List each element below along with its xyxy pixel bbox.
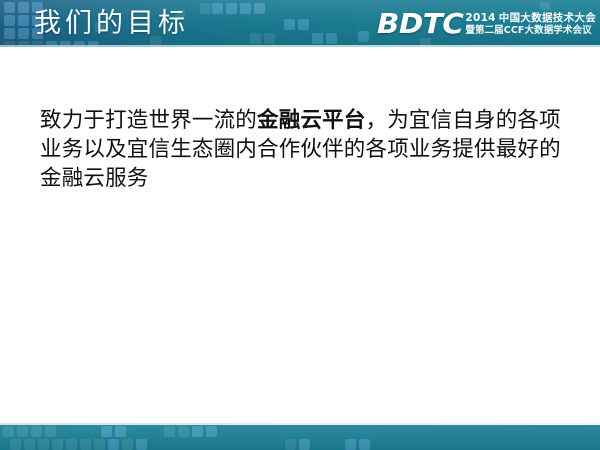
decor-square bbox=[345, 439, 356, 450]
decor-square bbox=[250, 33, 261, 44]
decor-square bbox=[66, 439, 77, 450]
logo-conference-name: 中国大数据技术大会 bbox=[499, 12, 596, 24]
decor-square bbox=[192, 426, 203, 437]
decor-square bbox=[4, 2, 15, 13]
decor-square bbox=[45, 426, 56, 437]
decor-square bbox=[101, 426, 112, 437]
decor-square bbox=[285, 439, 296, 450]
decor-square bbox=[212, 3, 223, 14]
decor-square bbox=[108, 439, 119, 450]
body-text-part-1: 致力于打造世界一流的 bbox=[40, 108, 257, 133]
decor-square bbox=[299, 439, 310, 450]
decor-square bbox=[358, 31, 369, 42]
decor-square bbox=[24, 439, 35, 450]
slide-content-area: 致力于打造世界一流的金融云平台，为宜信自身的各项业务以及宜信生态圈内合作伙伴的各… bbox=[40, 84, 570, 214]
decor-square bbox=[80, 439, 91, 450]
decor-square bbox=[31, 426, 42, 437]
decor-square bbox=[18, 28, 29, 39]
decor-square bbox=[178, 426, 189, 437]
decor-square bbox=[4, 15, 15, 26]
decor-square bbox=[18, 15, 29, 26]
slide-canvas: 我们的目标 BDTC 2014中国大数据技术大会 暨第二届CCF大数据学术会议 … bbox=[0, 0, 600, 450]
decor-square bbox=[18, 2, 29, 13]
decor-square bbox=[298, 19, 309, 30]
slide-footer-bar bbox=[0, 425, 600, 450]
decor-square bbox=[52, 439, 63, 450]
logo-text-block: 2014中国大数据技术大会 暨第二届CCF大数据学术会议 bbox=[465, 12, 596, 36]
decor-square bbox=[17, 426, 28, 437]
decor-square bbox=[94, 439, 105, 450]
decor-square bbox=[4, 28, 15, 39]
body-paragraph: 致力于打造世界一流的金融云平台，为宜信自身的各项业务以及宜信生态圈内合作伙伴的各… bbox=[40, 106, 570, 193]
decor-square bbox=[254, 3, 265, 14]
decor-square bbox=[240, 3, 251, 14]
decor-square bbox=[200, 3, 211, 14]
conference-logo: BDTC 2014中国大数据技术大会 暨第二届CCF大数据学术会议 bbox=[379, 5, 596, 43]
decor-square bbox=[264, 33, 275, 44]
decor-square bbox=[164, 426, 175, 437]
page-title: 我们的目标 bbox=[34, 3, 189, 45]
logo-year: 2014 bbox=[465, 12, 495, 24]
decor-square bbox=[359, 439, 370, 450]
decor-square bbox=[312, 33, 323, 44]
decor-square bbox=[326, 33, 337, 44]
header-bottom-rule bbox=[0, 45, 600, 47]
decor-square bbox=[122, 439, 133, 450]
decor-square bbox=[115, 426, 126, 437]
decor-square bbox=[206, 426, 217, 437]
decor-square bbox=[284, 19, 295, 30]
decor-square bbox=[10, 439, 21, 450]
logo-line-2: 暨第二届CCF大数据学术会议 bbox=[465, 26, 596, 36]
logo-line-1: 2014中国大数据技术大会 bbox=[465, 13, 596, 24]
body-text-highlight: 金融云平台 bbox=[257, 108, 366, 133]
decor-square bbox=[226, 3, 237, 14]
decor-square bbox=[38, 439, 49, 450]
decor-square bbox=[136, 439, 147, 450]
slide-header-bar: 我们的目标 BDTC 2014中国大数据技术大会 暨第二届CCF大数据学术会议 bbox=[0, 0, 600, 47]
decor-square bbox=[3, 426, 14, 437]
bdtc-logo-mark: BDTC bbox=[377, 10, 463, 38]
